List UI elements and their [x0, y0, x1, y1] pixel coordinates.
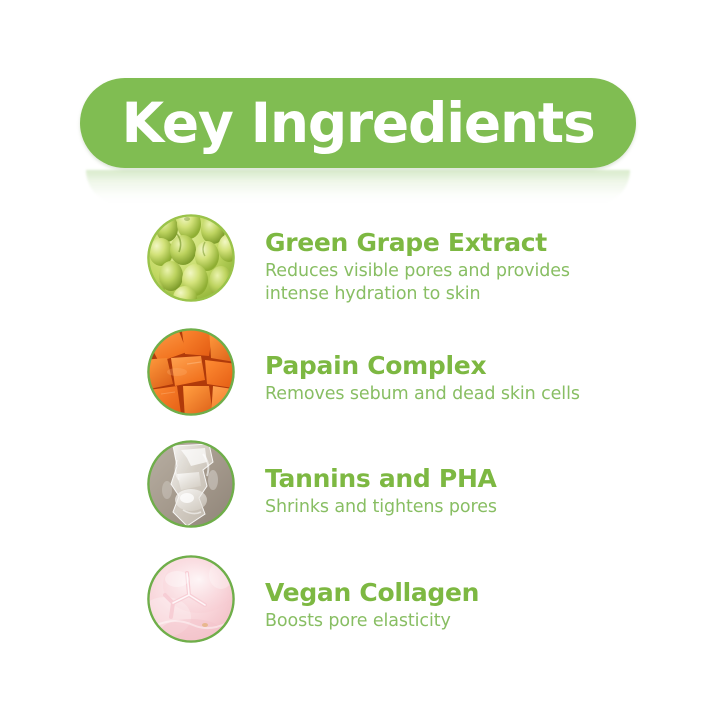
ingredient-description: Shrinks and tightens pores — [265, 496, 605, 519]
pink-collagen-gel-photo — [147, 555, 235, 643]
green-grapes-photo — [147, 214, 235, 302]
list-item: Papain Complex Removes sebum and dead sk… — [0, 328, 720, 442]
ingredient-name: Vegan Collagen — [265, 578, 605, 607]
key-ingredients-infographic: Key Ingredients — [0, 0, 720, 720]
ingredient-text: Green Grape Extract Reduces visible pore… — [265, 228, 605, 307]
ingredient-name: Tannins and PHA — [265, 464, 605, 493]
ingredient-text: Vegan Collagen Boosts pore elasticity — [265, 578, 605, 633]
papaya-chunks-photo — [147, 328, 235, 416]
ingredient-text: Papain Complex Removes sebum and dead sk… — [265, 351, 605, 406]
header-banner-pill: Key Ingredients — [80, 78, 636, 168]
list-item: Vegan Collagen Boosts pore elasticity — [0, 556, 720, 670]
header-banner: Key Ingredients — [80, 78, 636, 168]
ingredient-name: Green Grape Extract — [265, 228, 605, 257]
ingredient-name: Papain Complex — [265, 351, 605, 380]
ingredients-list: Green Grape Extract Reduces visible pore… — [0, 214, 720, 670]
list-item: Tannins and PHA Shrinks and tightens por… — [0, 442, 720, 556]
banner-reflection — [86, 170, 630, 204]
ingredient-description: Removes sebum and dead skin cells — [265, 383, 605, 406]
ingredient-text: Tannins and PHA Shrinks and tightens por… — [265, 464, 605, 519]
ingredient-description: Boosts pore elasticity — [265, 610, 605, 633]
ingredient-description: Reduces visible pores and provides inten… — [265, 260, 605, 307]
list-item: Green Grape Extract Reduces visible pore… — [0, 214, 720, 328]
ice-crystal-photo — [147, 440, 235, 528]
page-title: Key Ingredients — [121, 96, 594, 151]
